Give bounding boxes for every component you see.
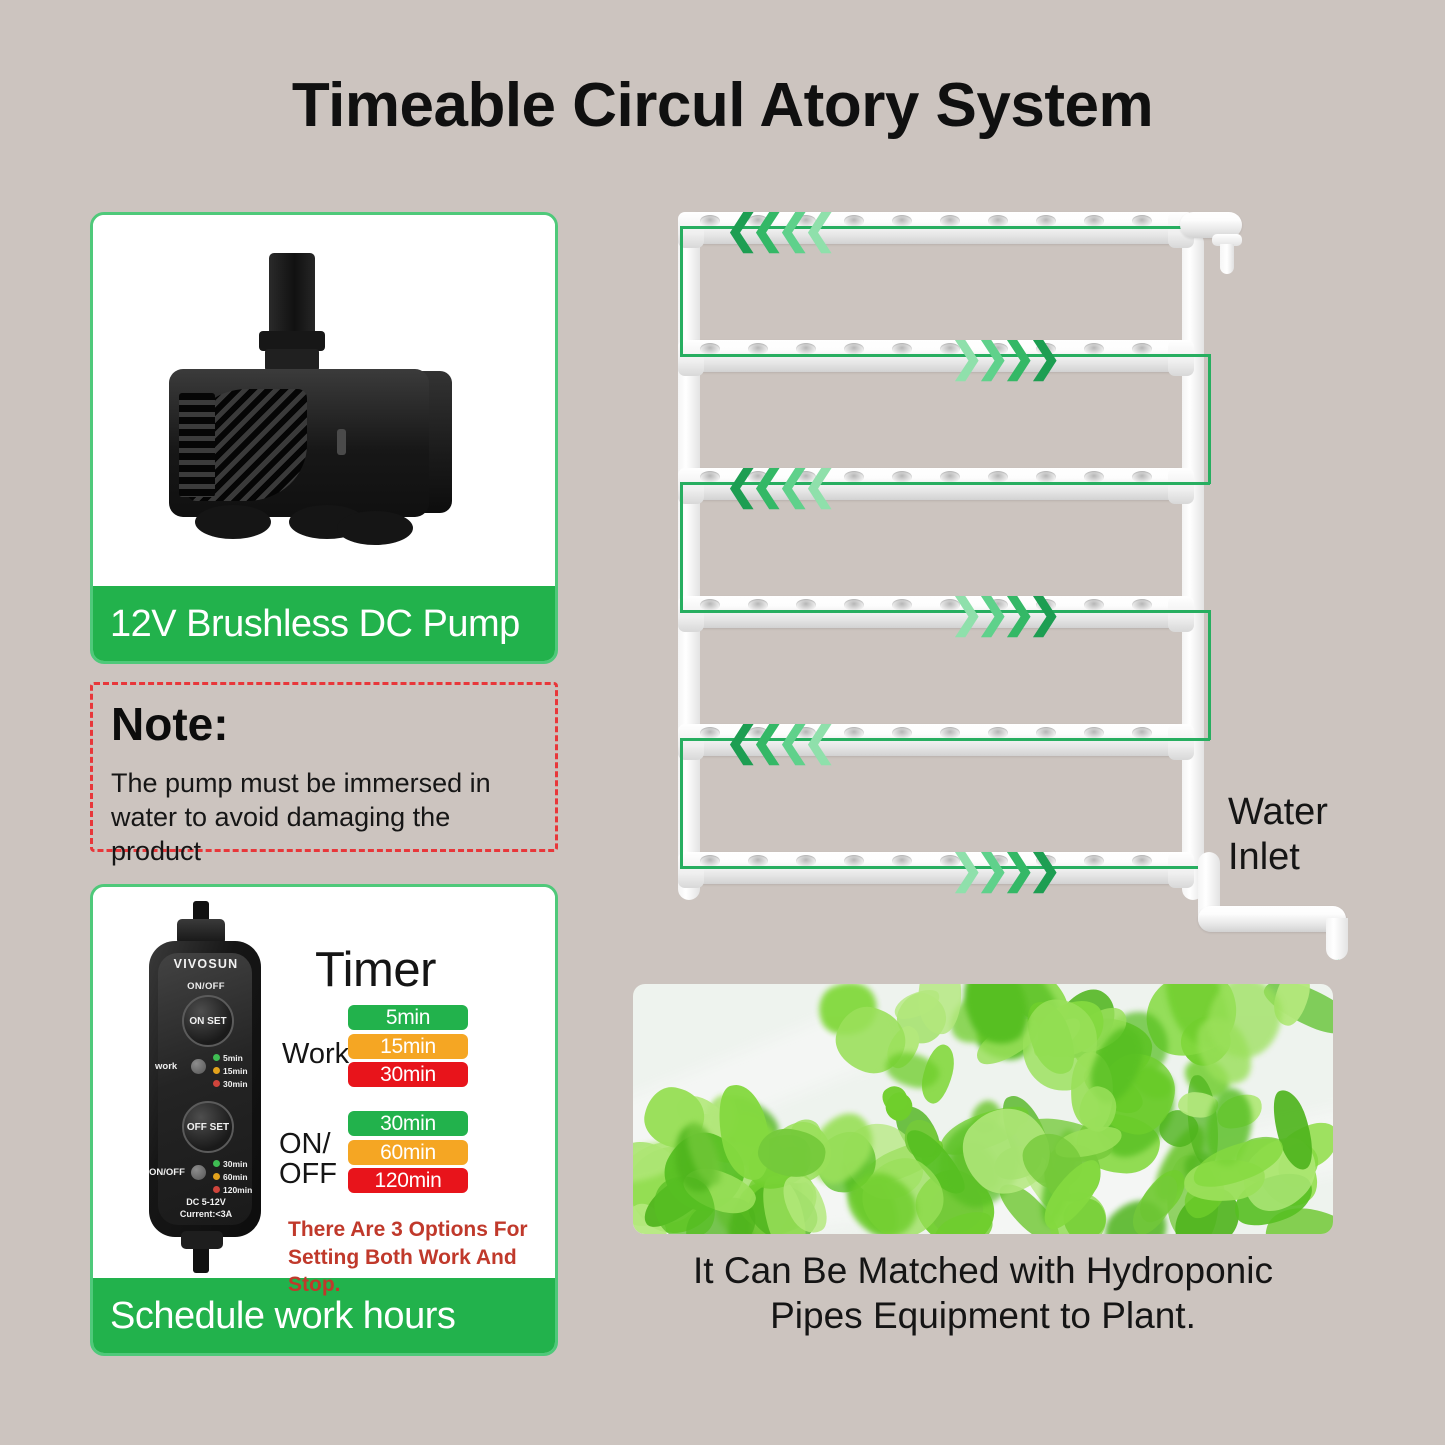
inlet-drop-pipe <box>1326 918 1348 960</box>
off-set-button[interactable]: OFF SET <box>182 1101 234 1153</box>
pump-side-vents <box>179 393 215 497</box>
led-dot-green <box>213 1054 220 1061</box>
led-dot-green <box>213 1160 220 1167</box>
led-row: 30min <box>213 1157 252 1170</box>
flow-path-segment <box>680 610 1210 613</box>
pump-suction-cup <box>195 505 271 539</box>
bottom-caption-line1: It Can Be Matched with Hydroponic <box>620 1248 1346 1293</box>
flow-arrow-chevron: ❮ <box>803 210 837 250</box>
led-label: 15min <box>223 1066 248 1076</box>
timer-heading: Timer <box>315 942 436 998</box>
flow-arrow-chevron: ❯ <box>1028 338 1062 378</box>
led-label: 60min <box>223 1172 248 1182</box>
controller-brand-logo: VIVOSUN <box>141 957 271 971</box>
led-row: 5min <box>213 1051 248 1064</box>
pipe-end-cap <box>1168 340 1194 376</box>
led-row: 15min <box>213 1064 248 1077</box>
pipe-end-cap <box>1168 596 1194 632</box>
led-dot-amber <box>213 1173 220 1180</box>
flow-path-segment <box>680 482 683 612</box>
controller-work-label: work <box>155 1061 177 1072</box>
controller-spec-voltage: DC 5-12V <box>141 1197 271 1209</box>
page-title: Timeable Circul Atory System <box>0 70 1445 141</box>
timer-footnote-line1: There Are 3 Options For <box>288 1216 548 1244</box>
controller-work-indicator-dome <box>191 1059 206 1074</box>
infographic-page: Timeable Circul Atory System 12V Brushle… <box>0 0 1445 1445</box>
onoff-group-label-line1: ON/ <box>279 1129 337 1159</box>
onoff-option-badge[interactable]: 60min <box>348 1140 468 1165</box>
flow-arrow-chevron: ❯ <box>1028 594 1062 634</box>
pump-suction-cup <box>337 511 413 545</box>
work-option-badge[interactable]: 30min <box>348 1062 468 1087</box>
water-inlet-label-line1: Water <box>1228 790 1328 835</box>
pipe-end-cap <box>1168 468 1194 504</box>
inlet-horizontal-pipe <box>1198 906 1346 932</box>
led-row: 120min <box>213 1183 252 1196</box>
controller-spec: DC 5-12V Current:<3A <box>141 1197 271 1220</box>
work-option-badge[interactable]: 15min <box>348 1034 468 1059</box>
flow-arrow-chevron: ❮ <box>803 466 837 506</box>
controller-onoff-top-label: ON/OFF <box>141 981 271 992</box>
note-body: The pump must be immersed in water to av… <box>111 767 541 868</box>
controller-spec-current: Current:<3A <box>141 1209 271 1221</box>
flow-path-segment <box>680 354 1210 357</box>
led-row: 30min <box>213 1077 248 1090</box>
led-label: 30min <box>223 1079 248 1089</box>
led-label: 30min <box>223 1159 248 1169</box>
led-dot-red <box>213 1186 220 1193</box>
onoff-option-badge[interactable]: 30min <box>348 1111 468 1136</box>
flow-arrow-chevron: ❯ <box>1028 850 1062 890</box>
timer-controller-device: VIVOSUN ON/OFF ON SET work 5min 15min <box>141 901 271 1273</box>
pump-caption: 12V Brushless DC Pump <box>92 586 556 662</box>
pipe-end-cap <box>1168 852 1194 888</box>
flow-path-segment <box>680 866 1210 869</box>
controller-onoff-label: ON/OFF <box>149 1167 185 1178</box>
pump-outlet-spout <box>269 253 315 335</box>
led-row: 60min <box>213 1170 252 1183</box>
led-label: 120min <box>223 1185 252 1195</box>
hydroponic-pipe-rack-diagram: ❮❮❮❮❯❯❯❯❮❮❮❮❯❯❯❯❮❮❮❮❯❯❯❯ Water Inlet <box>620 190 1380 950</box>
work-group-label: Work <box>282 1039 349 1069</box>
flow-path-segment <box>680 738 683 868</box>
pump-spout-neck <box>265 349 319 371</box>
flow-arrow-chevron: ❮ <box>803 722 837 762</box>
note-heading: Note: <box>111 697 229 751</box>
on-set-button[interactable]: ON SET <box>182 995 234 1047</box>
note-box: Note: The pump must be immersed in water… <box>90 682 558 852</box>
led-dot-amber <box>213 1067 220 1074</box>
pump-side-button <box>337 429 346 455</box>
outlet-drip-spout <box>1220 244 1234 274</box>
pump-card: 12V Brushless DC Pump <box>90 212 558 664</box>
onoff-group-label-line2: OFF <box>279 1159 337 1189</box>
flow-path-segment <box>680 226 683 356</box>
timer-footnote-line2: Setting Both Work And Stop. <box>288 1244 548 1299</box>
pump-spout-ring <box>259 331 325 351</box>
water-inlet-label-line2: Inlet <box>1228 835 1328 880</box>
bottom-caption-line2: Pipes Equipment to Plant. <box>620 1293 1346 1338</box>
lettuce-photo <box>633 984 1333 1234</box>
controller-onoff-indicator-dome <box>191 1165 206 1180</box>
flow-path-segment <box>1208 354 1211 484</box>
pump-illustration <box>159 253 489 563</box>
flow-path-segment <box>1208 610 1211 740</box>
water-inlet-label: Water Inlet <box>1228 790 1328 880</box>
timer-footnote: There Are 3 Options For Setting Both Wor… <box>288 1216 548 1299</box>
led-label: 5min <box>223 1053 243 1063</box>
onoff-group-label: ON/ OFF <box>279 1129 337 1190</box>
bottom-caption: It Can Be Matched with Hydroponic Pipes … <box>620 1248 1346 1338</box>
pipe-end-cap <box>1168 724 1194 760</box>
pump-photo <box>93 215 555 586</box>
work-option-badge[interactable]: 5min <box>348 1005 468 1030</box>
controller-onoff-led-group: 30min 60min 120min <box>213 1157 252 1196</box>
controller-bottom-connector <box>181 1231 223 1249</box>
led-dot-red <box>213 1080 220 1087</box>
onoff-option-badge[interactable]: 120min <box>348 1168 468 1193</box>
rack-right-rail <box>1182 232 1204 900</box>
controller-work-led-group: 5min 15min 30min <box>213 1051 248 1090</box>
